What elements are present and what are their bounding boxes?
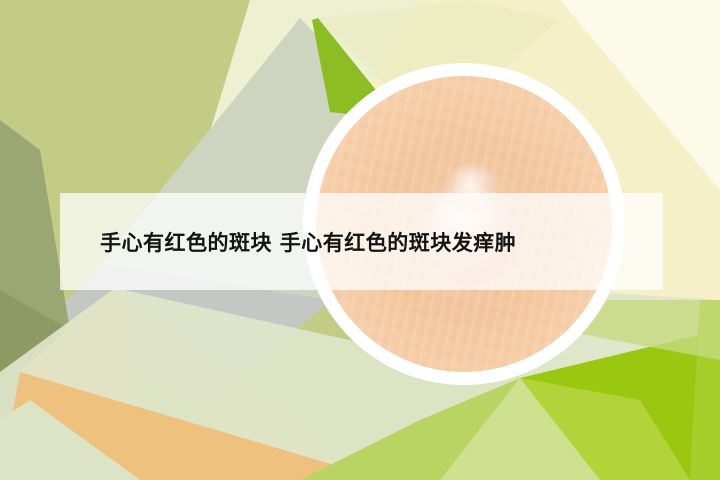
poster-canvas: 手心有红色的斑块 手心有红色的斑块发痒肿 (0, 0, 720, 480)
caption-title: 手心有红色的斑块 手心有红色的斑块发痒肿 (100, 193, 640, 290)
